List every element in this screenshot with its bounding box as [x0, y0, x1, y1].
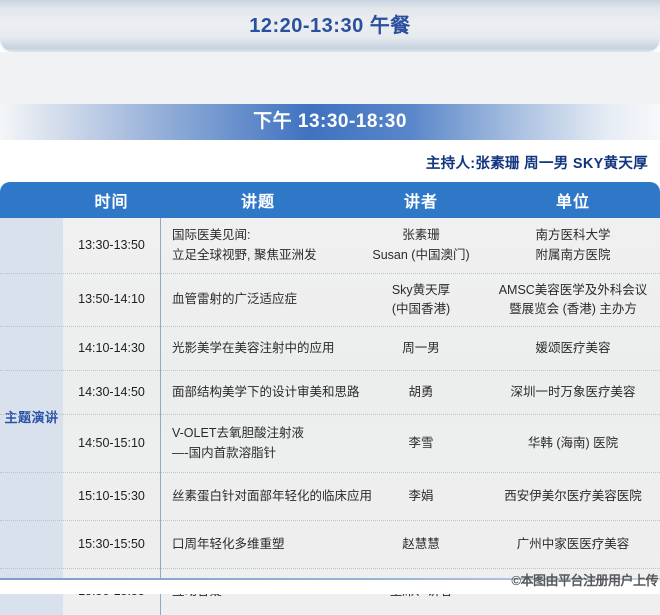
cell-speaker: 张素珊Susan (中国澳门) — [356, 226, 486, 265]
cell-time: 15:10-15:30 — [63, 487, 160, 506]
moderator-line: 主持人:张素珊 周一男 SKY黄天厚 — [426, 152, 648, 173]
schedule-page: 12:20-13:30 午餐 下午 13:30-18:30 主持人:张素珊 周一… — [0, 0, 660, 594]
cell-unit: 西安伊美尔医疗美容医院 — [486, 487, 660, 506]
cell-topic: 光影美学在美容注射中的应用 — [160, 339, 356, 358]
cell-time: 13:30-13:50 — [63, 236, 160, 255]
table-row: 14:50-15:10V-OLET去氧胆酸注射液—-国内首款溶脂针李雪华韩 (海… — [0, 415, 660, 473]
cell-speaker: 胡勇 — [356, 383, 486, 402]
cell-time: 13:50-14:10 — [63, 290, 160, 309]
cell-unit: 华韩 (海南) 医院 — [486, 434, 660, 453]
cell-time: 14:10-14:30 — [63, 339, 160, 358]
cell-speaker: 李娟 — [356, 487, 486, 506]
cell-unit: 媛颂医疗美容 — [486, 339, 660, 358]
cell-speaker: 赵慧慧 — [356, 535, 486, 554]
cell-unit: 深圳一时万象医疗美容 — [486, 383, 660, 402]
table-row: 13:50-14:10血管雷射的广泛适应症Sky黄天厚(中国香港)AMSC美容医… — [0, 274, 660, 327]
table-header-speaker: 讲者 — [356, 182, 486, 218]
cell-topic: V-OLET去氧胆酸注射液—-国内首款溶脂针 — [160, 424, 356, 463]
table-row: 14:30-14:50面部结构美学下的设计审美和思路胡勇深圳一时万象医疗美容 — [0, 371, 660, 415]
table-row: 15:30-15:50口周年轻化多维重塑赵慧慧广州中家医医疗美容 — [0, 521, 660, 569]
cell-speaker: 李雪 — [356, 434, 486, 453]
afternoon-banner-label: 下午 13:30-18:30 — [0, 104, 660, 140]
schedule-table: 时间 讲题 讲者 单位 主题演讲 13:30-13:50国际医美见闻:立足全球视… — [0, 182, 660, 615]
cell-unit: AMSC美容医学及外科会议暨展览会 (香港) 主办方 — [486, 281, 660, 320]
cell-topic: 血管雷射的广泛适应症 — [160, 290, 356, 309]
cell-unit: 广州中家医医疗美容 — [486, 535, 660, 554]
cell-time: 14:50-15:10 — [63, 434, 160, 453]
banner-spacer — [0, 52, 660, 104]
table-row: 13:30-13:50国际医美见闻:立足全球视野, 聚焦亚洲发张素珊Susan … — [0, 218, 660, 274]
table-row: 15:10-15:30丝素蛋白针对面部年轻化的临床应用李娟西安伊美尔医疗美容医院 — [0, 473, 660, 521]
cell-topic: 面部结构美学下的设计审美和思路 — [160, 383, 356, 402]
table-header-topic: 讲题 — [160, 182, 356, 218]
cell-topic: 丝素蛋白针对面部年轻化的临床应用 — [160, 487, 356, 506]
table-header-time: 时间 — [63, 182, 160, 218]
lunch-banner-label: 12:20-13:30 午餐 — [0, 0, 660, 52]
cell-time: 15:30-15:50 — [63, 535, 160, 554]
cell-time: 14:30-14:50 — [63, 383, 160, 402]
cell-topic: 国际医美见闻:立足全球视野, 聚焦亚洲发 — [160, 226, 356, 265]
cell-unit: 南方医科大学附属南方医院 — [486, 226, 660, 265]
watermark: ©本图由平台注册用户上传 — [511, 570, 658, 589]
table-header-row: 时间 讲题 讲者 单位 — [0, 182, 660, 218]
cell-speaker: 周一男 — [356, 339, 486, 358]
table-row: 14:10-14:30光影美学在美容注射中的应用周一男媛颂医疗美容 — [0, 327, 660, 371]
table-header-unit: 单位 — [486, 182, 660, 218]
cell-speaker: Sky黄天厚(中国香港) — [356, 281, 486, 320]
table-body: 主题演讲 13:30-13:50国际医美见闻:立足全球视野, 聚焦亚洲发张素珊S… — [0, 218, 660, 615]
table-header-category — [0, 182, 63, 218]
cell-topic: 口周年轻化多维重塑 — [160, 535, 356, 554]
